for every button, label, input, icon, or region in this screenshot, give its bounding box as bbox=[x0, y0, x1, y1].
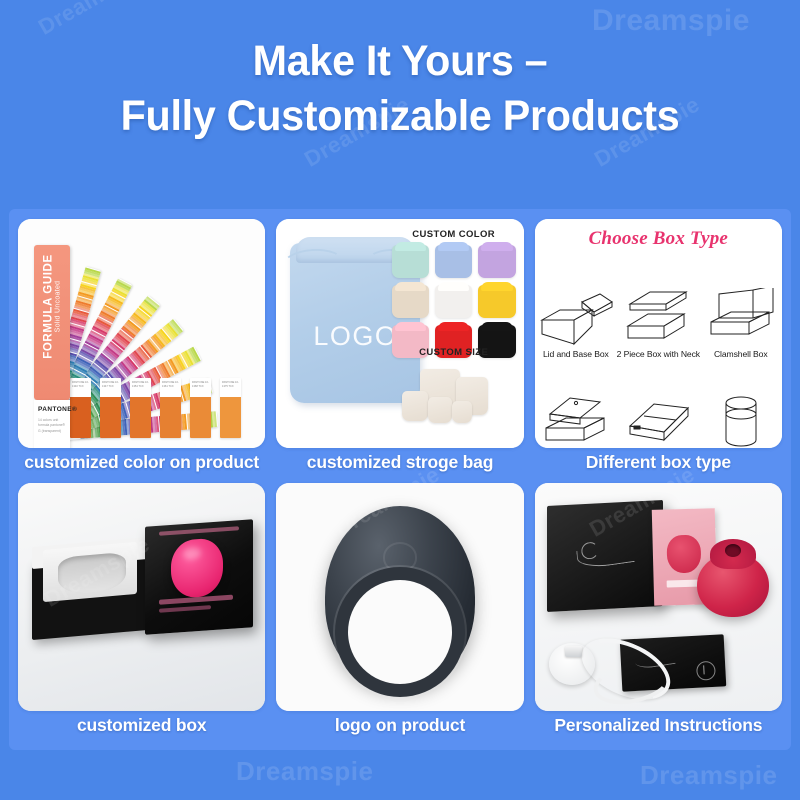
box-type-clamshell[interactable]: Clamshell Box bbox=[700, 261, 782, 359]
pantone-color-chip: PANTONE 16-1368 TCX bbox=[190, 378, 211, 438]
box-type-label-3: Clamshell Box bbox=[714, 349, 768, 359]
page-title: Make It Yours – Fully Customizable Produ… bbox=[0, 34, 800, 143]
box-type-2-piece-neck[interactable]: 2 Piece Box with Neck bbox=[617, 261, 699, 359]
caption-box-type: Different box type bbox=[535, 448, 782, 477]
pink-product-graphic bbox=[171, 537, 223, 599]
watermark-bottom: Dreamspie bbox=[236, 756, 373, 787]
pantone-color-chip: PANTONE 16-1361 TCX bbox=[160, 378, 181, 438]
box-type-round-tube[interactable]: Round Tube bbox=[700, 367, 782, 448]
brand-signature-icon bbox=[576, 543, 634, 570]
poster-root: Dreamspie Dreamspie Dreamspie Dreamspie … bbox=[0, 0, 800, 800]
storage-bag-image: LOGO CUSTOM COLOR CUSTOM SIZE bbox=[276, 219, 523, 448]
feature-cell-color: PANTONE 16-1340 TCXPANTONE 16-1347 TCXPA… bbox=[18, 219, 265, 477]
rose-center-opening bbox=[725, 544, 741, 557]
caption-logo-on-product: logo on product bbox=[276, 711, 523, 740]
logo-product-image bbox=[276, 483, 523, 712]
customized-box-image bbox=[18, 483, 265, 712]
custom-size-label: CUSTOM SIZE bbox=[390, 347, 518, 358]
caption-customized-color: customized color on product bbox=[18, 448, 265, 477]
bag-swatch-white[interactable] bbox=[435, 285, 472, 318]
drawstring-left-icon bbox=[281, 247, 345, 281]
box-type-label-2: 2 Piece Box with Neck bbox=[617, 349, 699, 359]
black-gift-box bbox=[547, 499, 663, 611]
embossed-logo-icon bbox=[383, 542, 417, 572]
instructions-image bbox=[535, 483, 782, 712]
pantone-brand-note: 14 colors unit formula pantone® G (trans… bbox=[38, 418, 66, 434]
box-type-label-1: Lid and Base Box bbox=[543, 349, 609, 359]
title-line-1: Make It Yours – bbox=[16, 34, 784, 89]
box-print-line-bottom bbox=[159, 605, 211, 613]
pantone-guide-image: PANTONE 16-1340 TCXPANTONE 16-1347 TCXPA… bbox=[18, 219, 265, 448]
feature-cell-bag: LOGO CUSTOM COLOR CUSTOM SIZE bbox=[276, 219, 523, 477]
bag-swatch-beige[interactable] bbox=[392, 285, 429, 318]
watermark-top-right: Dreamspie bbox=[592, 4, 750, 38]
silicone-ring-body bbox=[325, 506, 475, 688]
box-base-tray bbox=[32, 551, 148, 639]
feature-cell-logo: logo on product bbox=[276, 483, 523, 741]
card-box-type[interactable]: Choose Box Type Lid and Base Box bbox=[535, 219, 782, 448]
size-sample-group bbox=[398, 365, 510, 427]
bag-size-small bbox=[402, 391, 428, 421]
ring-aperture bbox=[348, 580, 452, 684]
box-type-drawer[interactable]: Drawer Box bbox=[617, 367, 699, 448]
usb-plug-icon bbox=[565, 646, 582, 657]
card-personalized-instructions[interactable] bbox=[535, 483, 782, 712]
guide-subtitle: Solid Uncoated bbox=[55, 247, 62, 367]
pantone-brand: PANTONE® bbox=[38, 406, 70, 413]
box-type-image: Choose Box Type Lid and Base Box bbox=[535, 219, 782, 448]
title-line-2: Fully Customizable Products bbox=[16, 89, 784, 144]
guide-cover: FORMULA GUIDE Solid Uncoated bbox=[34, 245, 70, 400]
feature-grid: PANTONE 16-1340 TCXPANTONE 16-1347 TCXPA… bbox=[9, 209, 791, 750]
box-type-lid-and-base[interactable]: Lid and Base Box bbox=[535, 261, 617, 359]
card-customized-box[interactable] bbox=[18, 483, 265, 712]
color-swatch-grid bbox=[392, 245, 516, 358]
guide-title: FORMULA GUIDE bbox=[43, 254, 55, 358]
caption-personalized-instructions: Personalized Instructions bbox=[535, 711, 782, 740]
pantone-color-chip: PANTONE 16-1354 TCX bbox=[130, 378, 151, 438]
color-chip-row: PANTONE 16-1340 TCXPANTONE 16-1347 TCXPA… bbox=[70, 378, 241, 438]
card-storage-bag[interactable]: LOGO CUSTOM COLOR CUSTOM SIZE bbox=[276, 219, 523, 448]
power-button-icon bbox=[696, 661, 716, 681]
card-customized-color[interactable]: PANTONE 16-1340 TCXPANTONE 16-1347 TCXPA… bbox=[18, 219, 265, 448]
bag-swatch-blue[interactable] bbox=[435, 245, 472, 278]
box-print-line-top bbox=[159, 526, 239, 536]
box-type-title: Choose Box Type bbox=[535, 228, 782, 250]
bag-swatch-mint[interactable] bbox=[392, 245, 429, 278]
caption-customized-box: customized box bbox=[18, 711, 265, 740]
bag-swatch-purple[interactable] bbox=[478, 245, 515, 278]
guide-cover-text: FORMULA GUIDE Solid Uncoated bbox=[43, 247, 62, 367]
feature-cell-instructions: Personalized Instructions bbox=[535, 483, 782, 741]
box-lid-printed bbox=[145, 519, 253, 635]
custom-color-label: CUSTOM COLOR bbox=[390, 229, 518, 240]
feature-panel: PANTONE 16-1340 TCXPANTONE 16-1347 TCXPA… bbox=[9, 209, 791, 750]
box-type-row-1: Lid and Base Box 2 Piece Box with Neck bbox=[535, 261, 782, 359]
pantone-color-chip: PANTONE 16-1347 TCX bbox=[100, 378, 121, 438]
pantone-color-chip: PANTONE 16-1375 TCX bbox=[220, 378, 241, 438]
feature-cell-boxtype: Choose Box Type Lid and Base Box bbox=[535, 219, 782, 477]
guide-cover-footer: PANTONE® 14 colors unit formula pantone®… bbox=[34, 400, 70, 448]
feature-cell-custombox: customized box bbox=[18, 483, 265, 741]
bag-swatch-yellow[interactable] bbox=[478, 285, 515, 318]
card-logo-on-product[interactable] bbox=[276, 483, 523, 712]
watermark-bottom-right: Dreamspie bbox=[640, 760, 777, 791]
leaflet-product-photo bbox=[666, 534, 701, 573]
box-type-magnetic[interactable]: Magentic Box bbox=[535, 367, 617, 448]
rose-product bbox=[697, 539, 769, 617]
caption-storage-bag: customized stroge bag bbox=[276, 448, 523, 477]
box-type-row-2: Magentic Box Drawer Box bbox=[535, 367, 782, 448]
bag-size-xsmall bbox=[428, 397, 452, 423]
bag-size-tiny bbox=[452, 401, 472, 423]
